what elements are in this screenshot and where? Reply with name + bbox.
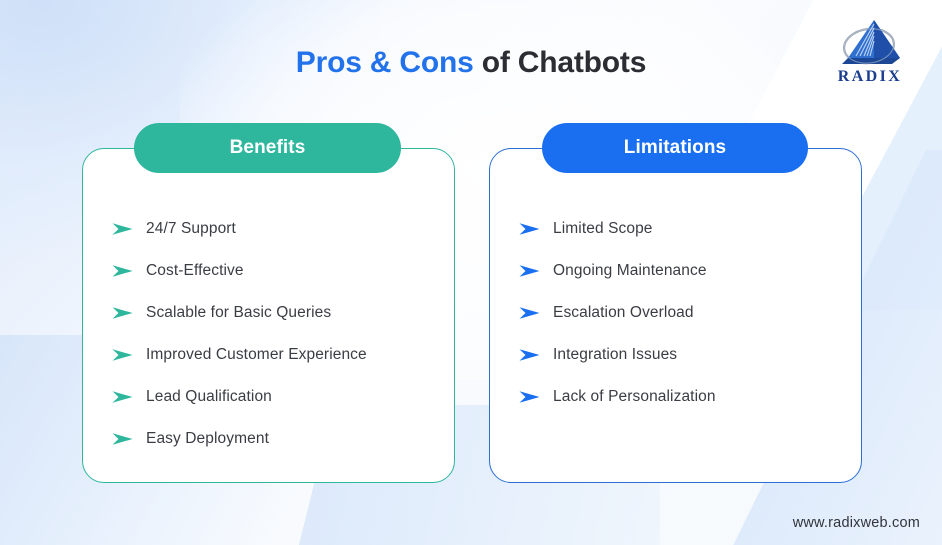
arrow-right-bullet-icon [112, 306, 134, 320]
list-item-label: 24/7 Support [146, 220, 236, 238]
list-item-label: Lead Qualification [146, 388, 272, 406]
page-title-accent: Pros & Cons [296, 46, 474, 79]
limitations-list: Limited Scope Ongoing Maintenance Escala… [519, 208, 849, 418]
page-title-rest: of Chatbots [474, 46, 647, 79]
radix-logo[interactable]: RADIX [822, 18, 918, 94]
list-item: Lead Qualification [112, 376, 442, 418]
list-item-label: Ongoing Maintenance [553, 262, 707, 280]
list-item: Ongoing Maintenance [519, 250, 849, 292]
list-item-label: Scalable for Basic Queries [146, 304, 331, 322]
page-title: Pros & Cons of Chatbots [0, 46, 942, 80]
list-item-label: Lack of Personalization [553, 388, 716, 406]
logo-wordmark: RADIX [822, 68, 918, 86]
footer-website-url[interactable]: www.radixweb.com [793, 515, 920, 531]
arrow-right-bullet-icon [112, 222, 134, 236]
list-item: Scalable for Basic Queries [112, 292, 442, 334]
list-item: Easy Deployment [112, 418, 442, 460]
list-item-label: Limited Scope [553, 220, 653, 238]
list-item-label: Integration Issues [553, 346, 677, 364]
list-item: Integration Issues [519, 334, 849, 376]
arrow-right-bullet-icon [112, 348, 134, 362]
list-item: Cost-Effective [112, 250, 442, 292]
benefits-list: 24/7 Support Cost-Effective Scalable for… [112, 208, 442, 460]
list-item: 24/7 Support [112, 208, 442, 250]
arrow-right-bullet-icon [519, 348, 541, 362]
arrow-right-bullet-icon [519, 264, 541, 278]
list-item: Escalation Overload [519, 292, 849, 334]
benefits-heading-label: Benefits [230, 137, 306, 159]
list-item: Improved Customer Experience [112, 334, 442, 376]
arrow-right-bullet-icon [519, 390, 541, 404]
benefits-heading-pill: Benefits [134, 123, 401, 173]
list-item-label: Cost-Effective [146, 262, 244, 280]
arrow-right-bullet-icon [112, 432, 134, 446]
arrow-right-bullet-icon [112, 390, 134, 404]
limitations-heading-pill: Limitations [542, 123, 808, 173]
limitations-heading-label: Limitations [624, 137, 726, 159]
infographic-canvas: Pros & Cons of Chatbots RADIX Benefits [0, 0, 942, 545]
list-item: Lack of Personalization [519, 376, 849, 418]
list-item-label: Escalation Overload [553, 304, 694, 322]
list-item-label: Improved Customer Experience [146, 346, 367, 364]
list-item-label: Easy Deployment [146, 430, 269, 448]
arrow-right-bullet-icon [519, 306, 541, 320]
list-item: Limited Scope [519, 208, 849, 250]
arrow-right-bullet-icon [519, 222, 541, 236]
pyramid-ring-icon [834, 18, 906, 70]
arrow-right-bullet-icon [112, 264, 134, 278]
